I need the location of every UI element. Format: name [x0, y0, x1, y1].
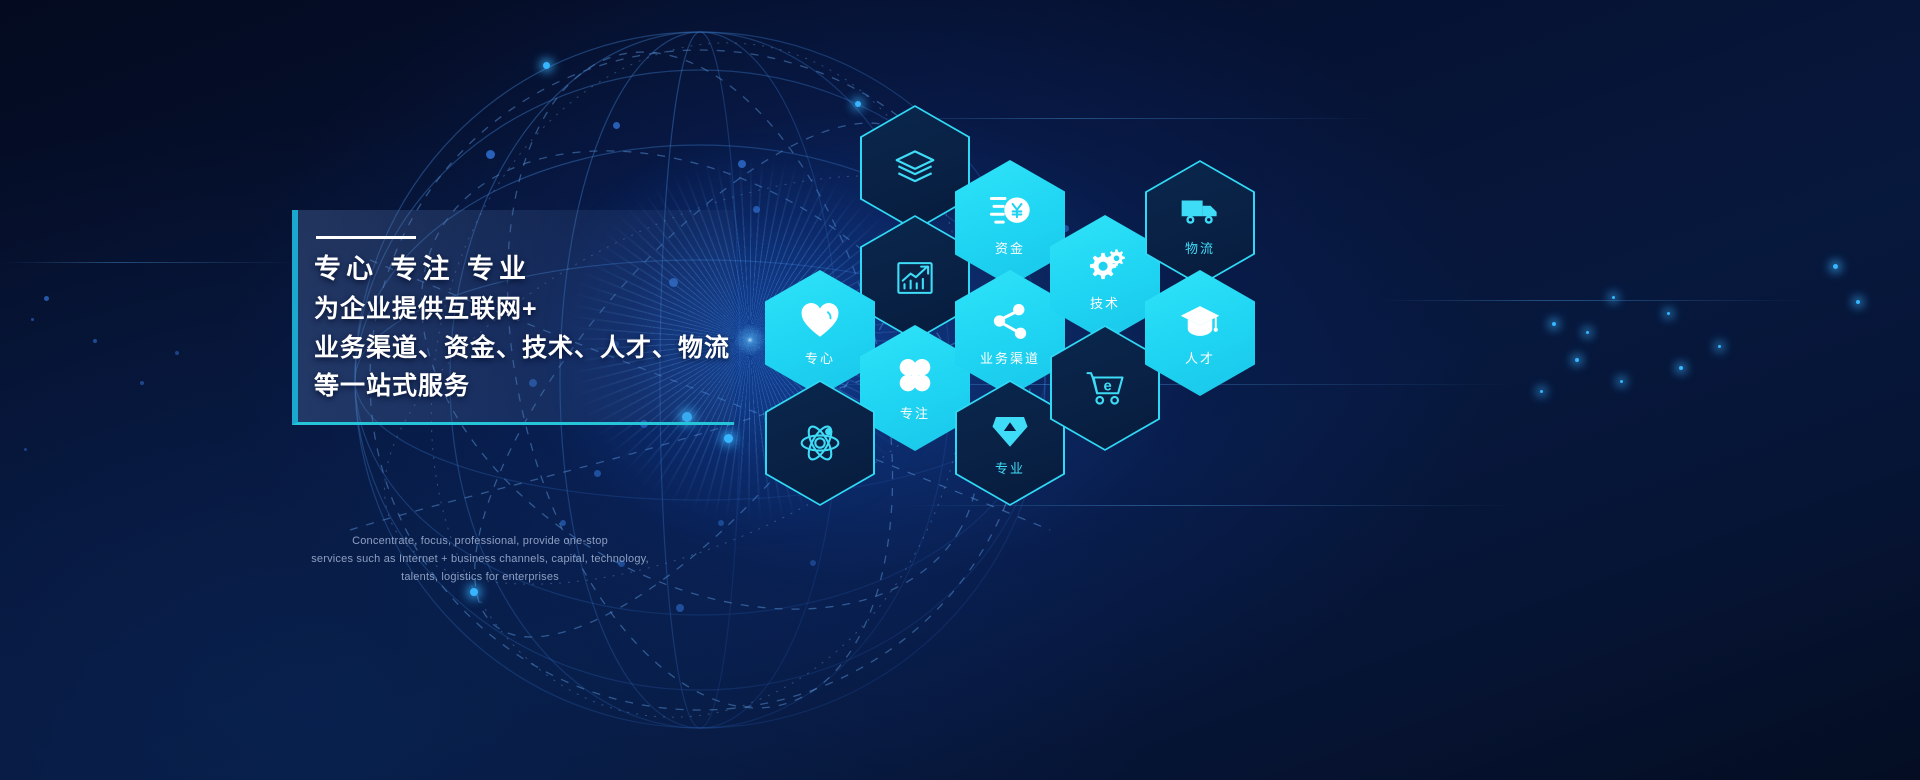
hexagon-label-zhuanzhu: 专注	[900, 403, 930, 422]
hero-banner: 专心 专注 专业 为企业提供互联网+ 业务渠道、资金、技术、人才、物流 等一站式…	[0, 0, 1920, 780]
svg-text:e: e	[1103, 379, 1111, 395]
hexagon-tile-zijin[interactable]: 资金	[955, 160, 1065, 286]
hexagon-label-zijin: 资金	[995, 238, 1025, 257]
graduation-cap-icon	[1179, 300, 1221, 342]
hexagon-label-jishu: 技术	[1090, 293, 1120, 312]
hexagon-tile-zhuanzhu[interactable]: 专注	[860, 325, 970, 451]
share-nodes-icon	[989, 300, 1031, 342]
headline-line-2: 为企业提供互联网+	[314, 290, 744, 329]
hexagon-tile-zhuanye[interactable]: 专业	[955, 380, 1065, 506]
subtitle-english: Concentrate, focus, professional, provid…	[300, 533, 660, 586]
subtitle-line-2: services such as Internet + business cha…	[300, 551, 660, 569]
headline-group: 专心 专注 专业 为企业提供互联网+ 业务渠道、资金、技术、人才、物流 等一站式…	[314, 250, 744, 406]
hexagon-grid: 专心专注资金业务渠道专业技术e物流人才	[740, 105, 1300, 535]
headline-panel: 专心 专注 专业 为企业提供互联网+ 业务渠道、资金、技术、人才、物流 等一站式…	[292, 210, 734, 425]
hexagon-tile-qudao[interactable]: 业务渠道	[955, 270, 1065, 396]
hexagon-tile-layers[interactable]	[860, 105, 970, 231]
hexagon-tile-cart[interactable]: e	[1050, 325, 1160, 451]
chart-growth-icon	[894, 257, 936, 299]
subtitle-line-1: Concentrate, focus, professional, provid…	[300, 533, 660, 551]
truck-icon	[1179, 190, 1221, 232]
atom-icon	[799, 422, 841, 464]
headline-line-3: 业务渠道、资金、技术、人才、物流	[314, 329, 744, 368]
hexagon-label-rencai: 人才	[1185, 348, 1215, 367]
hexagon-tile-atom[interactable]	[765, 380, 875, 506]
hexagon-tile-rencai[interactable]: 人才	[1145, 270, 1255, 396]
clover-icon	[894, 355, 936, 397]
heart-icon	[799, 300, 841, 342]
hexagon-label-zhuanye: 专业	[995, 458, 1025, 477]
diamond-icon	[989, 410, 1031, 452]
hexagon-tile-wuliu[interactable]: 物流	[1145, 160, 1255, 286]
yen-money-icon	[989, 190, 1031, 232]
hexagon-tile-zhuanxin[interactable]: 专心	[765, 270, 875, 396]
hexagon-label-qudao: 业务渠道	[980, 348, 1040, 367]
hexagon-label-wuliu: 物流	[1185, 238, 1215, 257]
gears-icon	[1084, 245, 1126, 287]
ecommerce-cart-icon: e	[1084, 367, 1126, 409]
headline-primary: 专心 专注 专业	[314, 250, 744, 290]
hexagon-tile-jishu[interactable]: 技术	[1050, 215, 1160, 341]
layers-icon	[894, 147, 936, 189]
hexagon-tile-chart[interactable]	[860, 215, 970, 341]
title-rule	[316, 236, 416, 239]
headline-line-4: 等一站式服务	[314, 367, 744, 406]
subtitle-line-3: talents, logistics for enterprises	[300, 569, 660, 587]
hexagon-label-zhuanxin: 专心	[805, 348, 835, 367]
